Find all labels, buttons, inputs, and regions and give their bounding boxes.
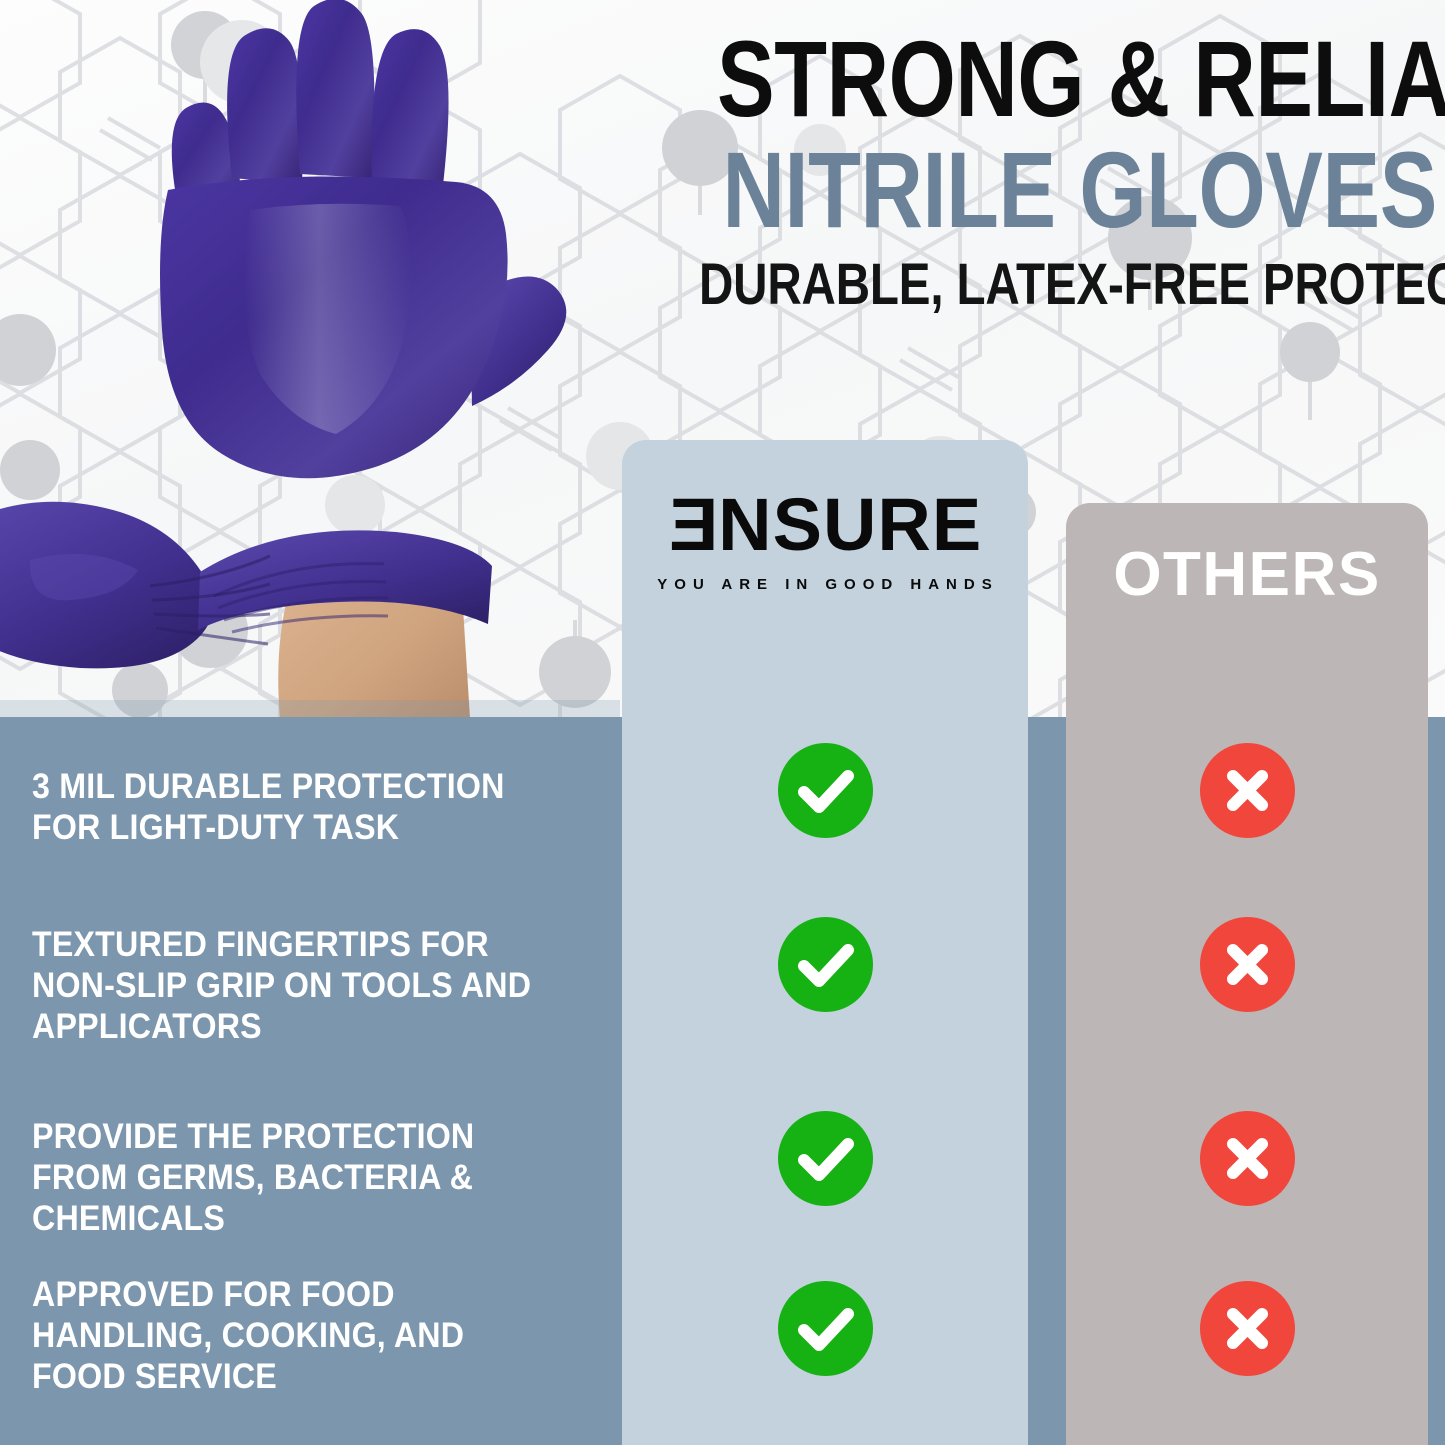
others-status-cell-2 <box>1066 917 1428 1012</box>
check-circle-icon <box>778 1281 873 1376</box>
cross-circle-icon <box>1200 917 1295 1012</box>
ensure-status-column <box>622 717 1028 1445</box>
cross-circle-icon <box>1200 1281 1295 1376</box>
others-status-cell-3 <box>1066 1111 1428 1206</box>
ensure-logo-tagline: YOU ARE IN GOOD HANDS <box>622 576 1028 593</box>
ensure-status-cell-4 <box>622 1281 1028 1376</box>
headline-subtitle: DURABLE, LATEX-FREE PROTECTION <box>699 256 1437 314</box>
feature-item-4: APPROVED FOR FOOD HANDLING, COOKING, AND… <box>32 1275 556 1398</box>
ensure-status-cell-3 <box>622 1111 1028 1206</box>
headline-primary: STRONG & RELIABLE <box>717 26 1437 132</box>
nitrile-glove-photo <box>0 0 620 718</box>
cross-circle-icon <box>1200 743 1295 838</box>
others-status-cell-4 <box>1066 1281 1428 1376</box>
ensure-logo: ENSURE YOU ARE IN GOOD HANDS <box>622 488 1028 593</box>
cross-circle-icon <box>1200 1111 1295 1206</box>
headline-group: STRONG & RELIABLE NITRILE GLOVES DURABLE… <box>537 26 1437 314</box>
check-circle-icon <box>778 743 873 838</box>
feature-item-2: TEXTURED FINGERTIPS FOR NON-SLIP GRIP ON… <box>32 925 556 1048</box>
ensure-status-cell-2 <box>622 917 1028 1012</box>
others-status-column <box>1066 717 1428 1445</box>
ensure-logo-mirrored-e: E <box>668 488 718 562</box>
infographic-canvas: STRONG & RELIABLE NITRILE GLOVES DURABLE… <box>0 0 1445 1445</box>
ensure-logo-wordmark: ENSURE <box>668 488 982 562</box>
headline-secondary: NITRILE GLOVES <box>717 136 1437 244</box>
others-status-cell-1 <box>1066 743 1428 838</box>
ensure-status-cell-1 <box>622 743 1028 838</box>
others-column-title: OTHERS <box>1066 539 1428 610</box>
ensure-logo-rest: NSURE <box>718 483 982 566</box>
check-circle-icon <box>778 1111 873 1206</box>
feature-item-3: PROVIDE THE PROTECTION FROM GERMS, BACTE… <box>32 1117 556 1240</box>
feature-item-1: 3 MIL DURABLE PROTECTION FOR LIGHT-DUTY … <box>32 767 556 849</box>
check-circle-icon <box>778 917 873 1012</box>
